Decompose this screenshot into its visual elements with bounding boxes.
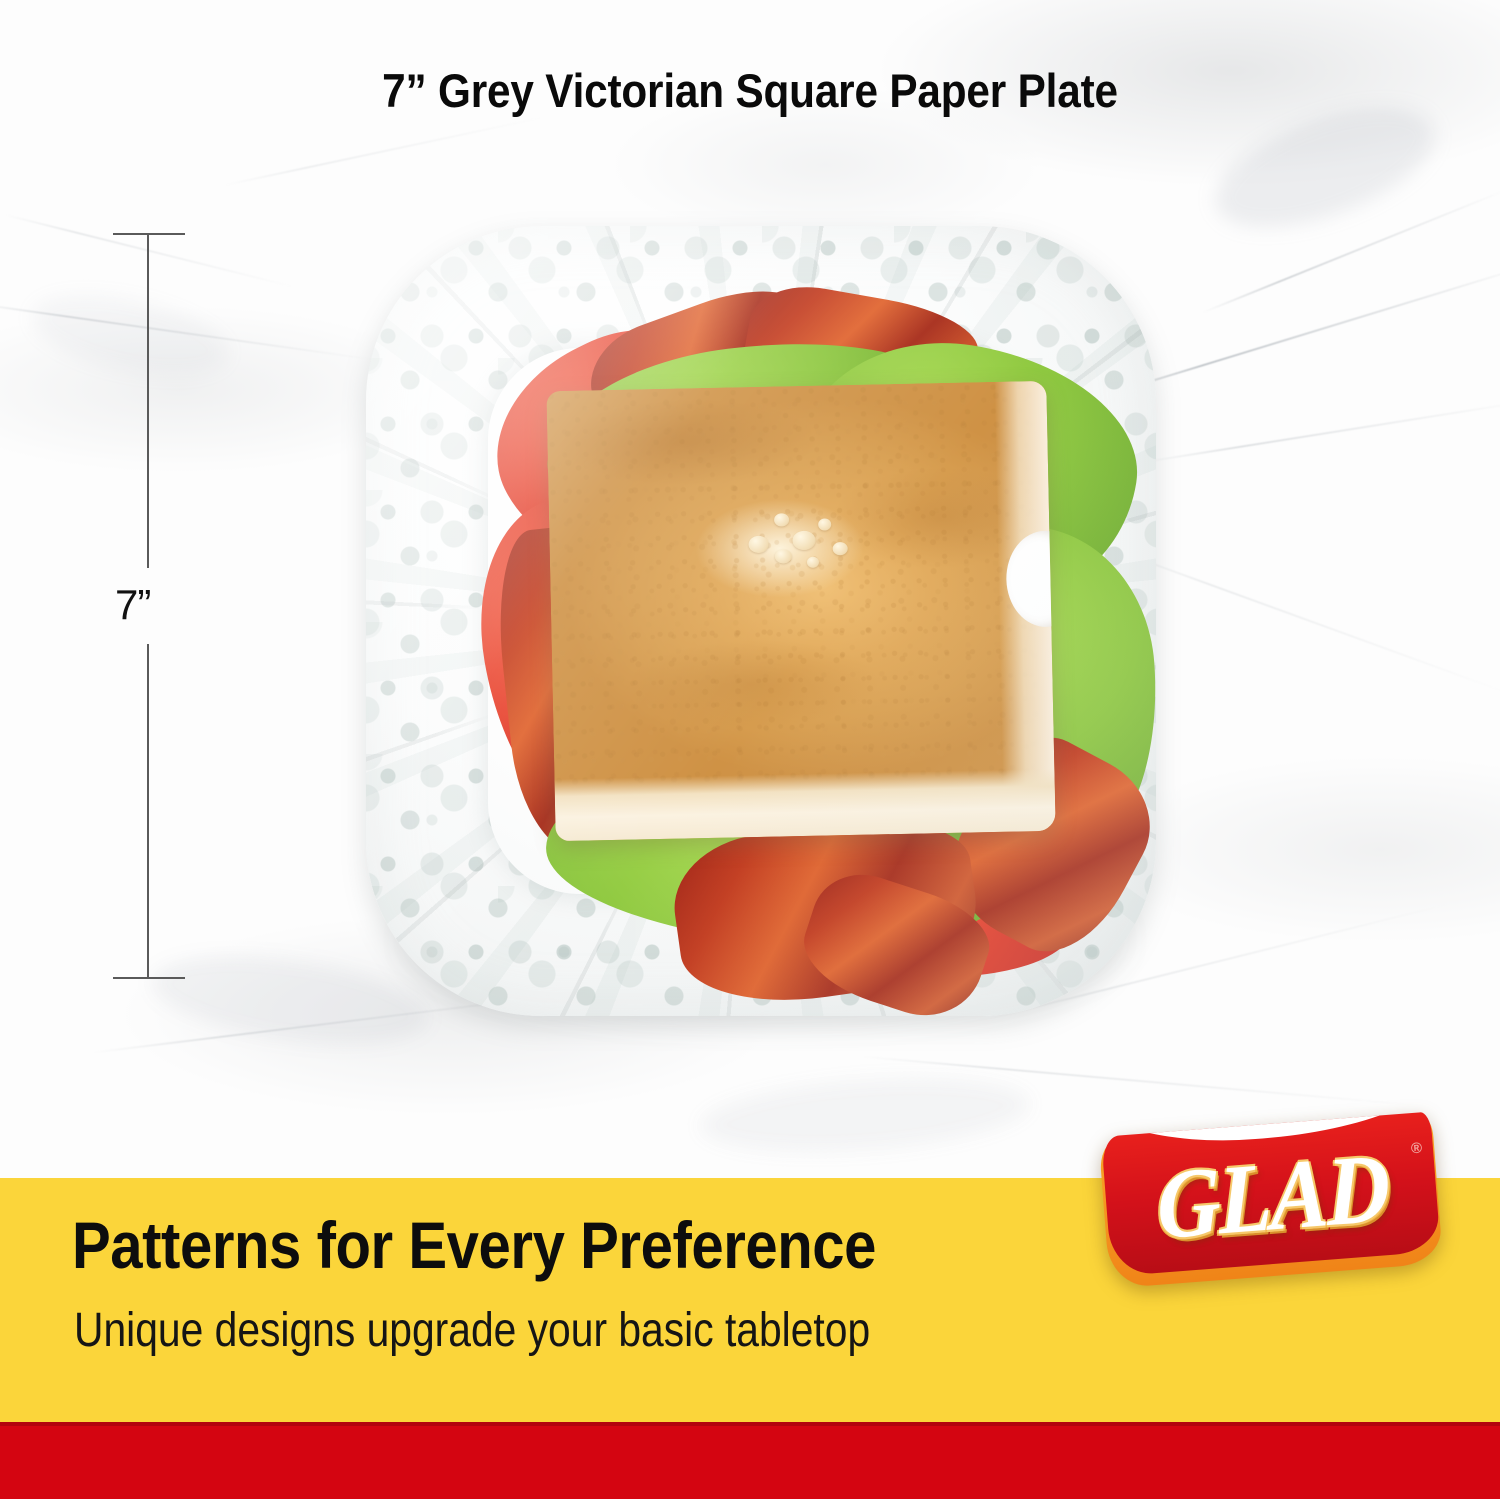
marble-patch — [698, 1069, 1032, 1162]
toast-bubble — [833, 542, 848, 555]
paper-plate — [366, 226, 1156, 1016]
toasted-bread-slice — [546, 381, 1055, 841]
glad-logo: GLAD ® — [1104, 1124, 1438, 1278]
dimension-tick-top — [113, 233, 185, 235]
dimension-ruler: 7” — [113, 233, 185, 979]
toast-bubble — [774, 513, 789, 526]
toast-crust-bottom — [554, 769, 1055, 841]
footer-bar — [0, 1422, 1500, 1499]
marble-vein — [1142, 399, 1500, 463]
glad-wordmark-text: GLAD — [1156, 1131, 1390, 1262]
toast-bubble — [807, 557, 819, 568]
toast-bubble — [818, 518, 831, 530]
dimension-tick-bottom — [113, 977, 185, 979]
dimension-line-upper — [147, 233, 149, 568]
toast-bubble — [775, 549, 792, 563]
blt-sandwich — [366, 226, 1156, 1016]
toast-bubbles — [744, 500, 866, 582]
toast-bubble — [748, 536, 768, 553]
registered-trademark-icon: ® — [1410, 1140, 1422, 1158]
glad-wordmark: GLAD — [1099, 1111, 1444, 1290]
marble-vein — [223, 116, 546, 186]
dimension-label: 7” — [115, 567, 195, 643]
page-title: 7” Grey Victorian Square Paper Plate — [75, 63, 1425, 118]
toast-bubble — [792, 531, 815, 550]
dimension-line-lower — [147, 644, 149, 979]
banner-subline: Unique designs upgrade your basic tablet… — [74, 1303, 870, 1358]
marble-vein — [1112, 548, 1500, 693]
banner-headline: Patterns for Every Preference — [72, 1207, 876, 1283]
